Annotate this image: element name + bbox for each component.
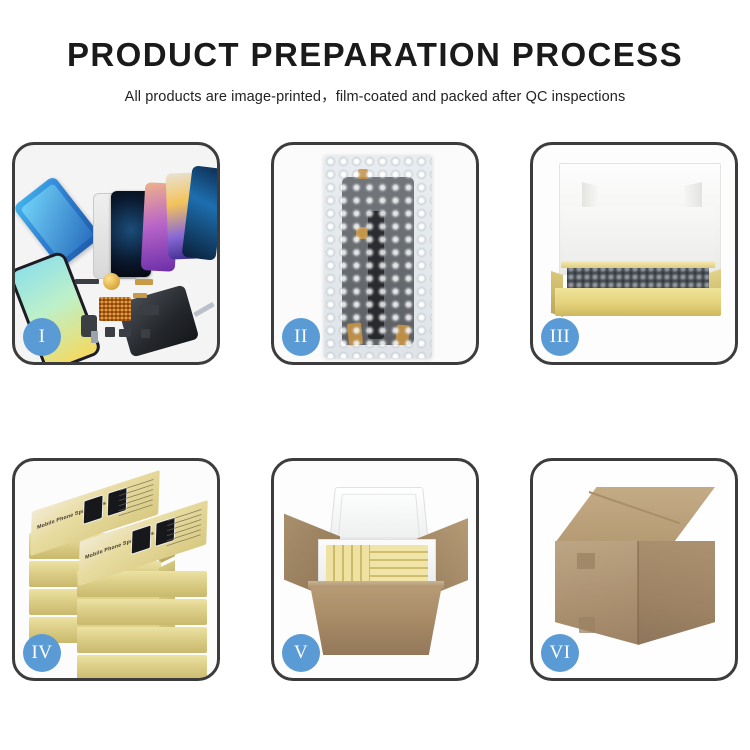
carton-top-face-image: [555, 487, 715, 543]
part-strip-image: [75, 279, 99, 284]
process-step-6[interactable]: VI: [530, 458, 738, 681]
yellow-box-front-image: [555, 288, 721, 316]
step-2-badge: II: [282, 318, 320, 356]
gold-connector-image: [135, 279, 153, 285]
process-step-5[interactable]: V: [271, 458, 479, 681]
screw-image: [91, 331, 98, 343]
bubble-wrap-package-image: [324, 155, 432, 358]
box-screen-print-2a: [131, 524, 152, 555]
process-step-grid: I II: [12, 142, 738, 681]
phone-back-housing-image: [117, 284, 200, 357]
carton-tape-mark-2-image: [579, 617, 595, 633]
step-4-badge: IV: [23, 634, 61, 672]
speaker-component-image: [103, 273, 120, 290]
foam-sheet-image: [563, 207, 715, 269]
small-chip-image: [105, 327, 115, 337]
button-part-image: [141, 329, 150, 338]
box-rim-image: [561, 261, 715, 268]
carton-side-face-image: [638, 541, 715, 645]
step-6-badge: VI: [541, 634, 579, 672]
box-spec-lines-2: [167, 507, 202, 546]
step-1-badge: I: [23, 318, 61, 356]
process-step-3[interactable]: III: [530, 142, 738, 365]
box-spec-lines-1: [119, 477, 154, 516]
bubble-texture-overlay: [324, 155, 432, 358]
box-screen-print-1a: [83, 494, 104, 525]
process-step-1[interactable]: I: [12, 142, 220, 365]
carton-front-face-image: [555, 541, 639, 645]
page-header: PRODUCT PREPARATION PROCESS All products…: [0, 0, 750, 106]
page-subtitle: All products are image-printed，film-coat…: [0, 71, 750, 106]
step-3-badge: III: [541, 318, 579, 356]
step-5-badge: V: [282, 634, 320, 672]
stack-front-2: [77, 599, 207, 625]
carton-body-image: [310, 585, 442, 655]
camera-module-image: [139, 305, 159, 315]
process-step-4[interactable]: Mobile Phone Spare Parts Mobile Phone Sp…: [12, 458, 220, 681]
foam-lid-open-image: [329, 487, 430, 547]
screwdriver-image: [193, 302, 215, 317]
logic-board-image: [99, 297, 131, 321]
carton-tape-mark-1-image: [577, 553, 595, 569]
stack-front-3: [77, 627, 207, 653]
stack-front-4: [77, 655, 207, 678]
process-step-2[interactable]: II: [271, 142, 479, 365]
yellow-boxes-stacked-image: [370, 545, 428, 583]
page-title: PRODUCT PREPARATION PROCESS: [0, 38, 750, 71]
sensor-image: [119, 329, 131, 337]
gold-clip-image: [133, 293, 147, 298]
carton-vertical-edge-image: [637, 541, 639, 643]
